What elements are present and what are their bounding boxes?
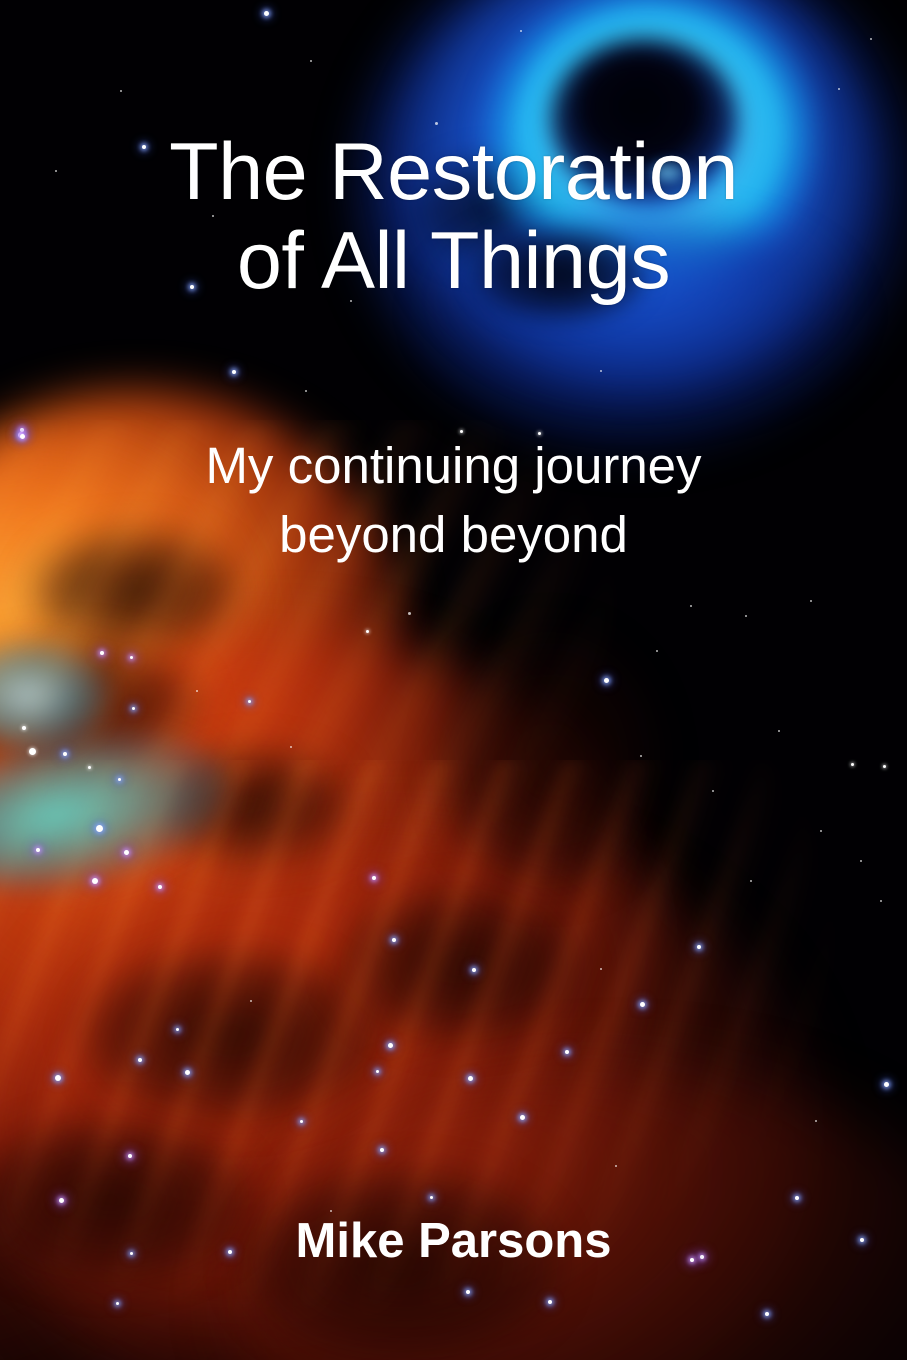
book-cover: The Restoration of All Things My continu… <box>0 0 907 1360</box>
cover-text: The Restoration of All Things My continu… <box>0 0 907 1360</box>
book-subtitle: My continuing journey beyond beyond <box>0 432 907 570</box>
book-author: Mike Parsons <box>0 1213 907 1269</box>
book-subtitle-line-2: beyond beyond <box>0 501 907 570</box>
book-title: The Restoration of All Things <box>0 128 907 306</box>
book-subtitle-line-1: My continuing journey <box>0 432 907 501</box>
book-title-line-1: The Restoration <box>0 128 907 217</box>
book-title-line-2: of All Things <box>0 217 907 306</box>
